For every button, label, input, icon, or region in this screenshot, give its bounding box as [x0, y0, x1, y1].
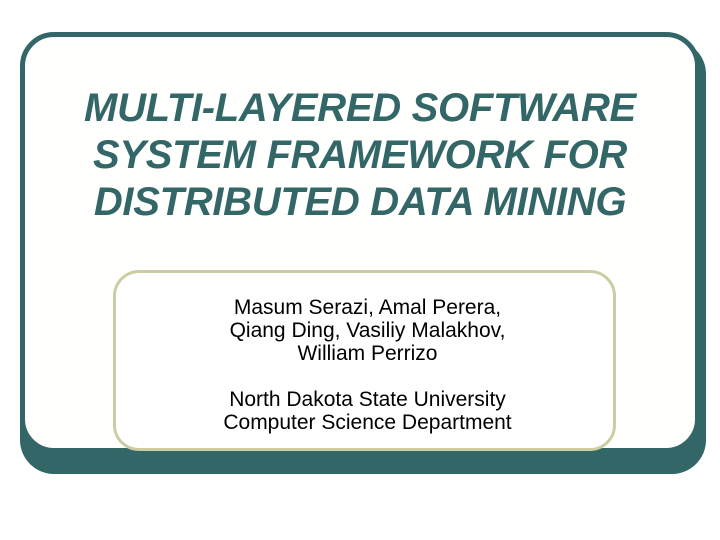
affiliation-line-1: North Dakota State University	[116, 388, 619, 411]
paragraph-spacer	[116, 365, 619, 388]
author-line-2: Qiang Ding, Vasiliy Malakhov,	[116, 319, 619, 342]
author-line-3: William Perrizo	[116, 342, 619, 365]
author-affiliation-box: Masum Serazi, Amal Perera, Qiang Ding, V…	[113, 270, 616, 451]
author-affiliation-text: Masum Serazi, Amal Perera, Qiang Ding, V…	[116, 296, 619, 434]
presentation-slide: MULTI-LAYERED SOFTWARE SYSTEM FRAMEWORK …	[0, 0, 720, 540]
title-line-2: SYSTEM FRAMEWORK FOR	[47, 132, 673, 179]
title-line-1: MULTI-LAYERED SOFTWARE	[47, 85, 673, 132]
title-line-3: DISTRIBUTED DATA MINING	[47, 179, 673, 226]
affiliation-line-2: Computer Science Department	[116, 411, 619, 434]
title-card: MULTI-LAYERED SOFTWARE SYSTEM FRAMEWORK …	[20, 32, 700, 453]
author-line-1: Masum Serazi, Amal Perera,	[116, 296, 619, 319]
page-title: MULTI-LAYERED SOFTWARE SYSTEM FRAMEWORK …	[47, 85, 673, 226]
